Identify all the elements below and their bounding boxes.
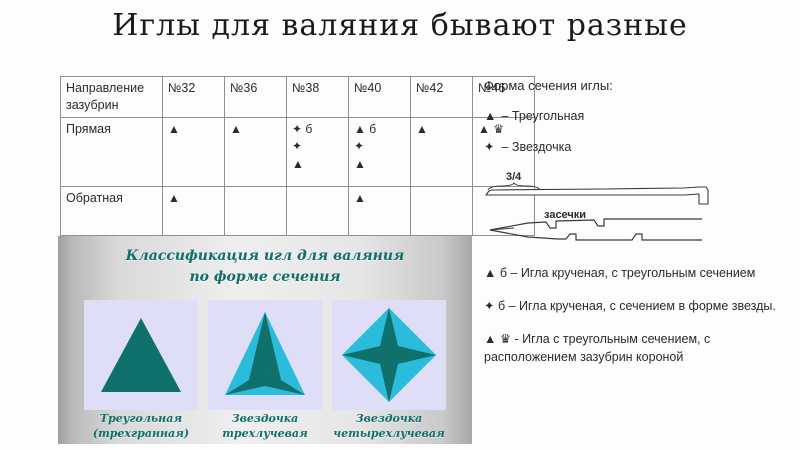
- three-point-star-shape-icon: [208, 300, 322, 410]
- row-label-reverse: Обратная: [61, 187, 163, 236]
- triangle-shape-icon: [84, 300, 198, 410]
- cell-reverse-n36: [225, 187, 287, 236]
- four-point-star-shape-icon: [332, 300, 446, 410]
- legend-entry-triangular: ▲ – Треугольная: [484, 107, 796, 125]
- label-line1: Звездочка: [195, 412, 335, 427]
- label-line2: четырехлучевая: [319, 427, 459, 442]
- table-row: Прямая ▲ ▲ ✦ б ✦ ▲ ▲ б ✦ ▲: [61, 118, 535, 187]
- needle-table: Направление зазубрин №32 №36 №38 №40 №42…: [60, 76, 535, 236]
- label-line1: Треугольная: [71, 412, 211, 427]
- shape-tile-label-four-point-star: Звездочка четырехлучевая: [319, 412, 459, 442]
- symbol: ▲: [292, 156, 343, 173]
- shape-tiles: Треугольная (трехгранная) Звездочка трех…: [58, 300, 472, 442]
- symbol: ▲: [230, 121, 281, 138]
- needle-table-container: Направление зазубрин №32 №36 №38 №40 №42…: [60, 76, 472, 236]
- legend-entry-label: - Игла с треугольным сечением, с располо…: [484, 332, 710, 365]
- shape-tile-label-three-point-star: Звездочка трехлучевая: [195, 412, 335, 442]
- classification-panel: Классификация игл для валяния по форме с…: [58, 236, 472, 444]
- panel-title-line2: по форме сечения: [58, 267, 472, 288]
- symbol: ✦: [354, 138, 405, 155]
- needle-diagram: 3/4 засечки: [484, 168, 796, 260]
- panel-title-line1: Классификация игл для валяния: [58, 246, 472, 267]
- legend-entry-label: – Звездочка: [501, 140, 571, 154]
- cell-reverse-n42: [411, 187, 473, 236]
- table-header-n32: №32: [163, 77, 225, 118]
- slide-root: Иглы для валяния бывают разные Направлен…: [0, 0, 800, 450]
- row-label-straight: Прямая: [61, 118, 163, 187]
- brace-marker: [488, 183, 540, 190]
- cell-reverse-n40: ▲: [349, 187, 411, 236]
- legend-entry-label: – Игла крученая, с треугольным сечением: [511, 266, 756, 280]
- label-line1: Звездочка: [319, 412, 459, 427]
- table-header-n40: №40: [349, 77, 411, 118]
- legend-entry-twisted-triangular: ▲ б – Игла крученая, с треугольным сечен…: [484, 264, 800, 283]
- page-title: Иглы для валяния бывают разные: [0, 8, 800, 43]
- triangle-icon: ▲: [484, 107, 498, 125]
- symbol: ▲: [354, 190, 405, 207]
- cell-reverse-n32: ▲: [163, 187, 225, 236]
- legend-entry-label: – Треугольная: [501, 109, 584, 123]
- cell-straight-n32: ▲: [163, 118, 225, 187]
- table-header-direction: Направление зазубрин: [61, 77, 163, 118]
- label-line2: (трехгранная): [71, 427, 211, 442]
- barb-edge-bottom: [490, 230, 702, 240]
- barb-edge-top: [490, 219, 702, 230]
- cross-section-legend: Форма сечения иглы: ▲ – Треугольная ✦ – …: [484, 78, 796, 169]
- symbol: ▲: [354, 156, 405, 173]
- legend-entry-twisted-star: ✦ б – Игла крученая, с сечением в форме …: [484, 297, 800, 316]
- table-header-row: Направление зазубрин №32 №36 №38 №40 №42…: [61, 77, 535, 118]
- symbol: ▲: [168, 121, 219, 138]
- legend-lead-text: Форма сечения иглы:: [484, 78, 796, 93]
- needle-outline: [486, 187, 708, 204]
- symbol: ✦: [292, 138, 343, 155]
- symbol: ▲ б: [354, 121, 405, 138]
- classification-panel-title: Классификация игл для валяния по форме с…: [58, 246, 472, 288]
- cell-straight-n42: ▲: [411, 118, 473, 187]
- shape-tile-three-point-star: [208, 300, 322, 410]
- cell-reverse-n38: [287, 187, 349, 236]
- fraction-label-3-4: 3/4: [506, 171, 522, 183]
- table-row: Обратная ▲ ▲: [61, 187, 535, 236]
- cell-straight-n38: ✦ б ✦ ▲: [287, 118, 349, 187]
- star-icon: ✦: [484, 138, 498, 156]
- legend-entry-crown: ▲ ♛ - Игла с треугольным сечением, с рас…: [484, 330, 800, 368]
- barbs-label: засечки: [544, 209, 586, 221]
- legend-entry-label: – Игла крученая, с сечением в форме звез…: [509, 299, 776, 313]
- symbol: ▲: [168, 190, 219, 207]
- triangle-crown-icon: ▲ ♛: [484, 332, 511, 346]
- cell-straight-n36: ▲: [225, 118, 287, 187]
- table-header-n42: №42: [411, 77, 473, 118]
- label-line2: трехлучевая: [195, 427, 335, 442]
- star-b-icon: ✦ б: [484, 299, 505, 313]
- cell-straight-n40: ▲ б ✦ ▲: [349, 118, 411, 187]
- shape-tile-triangular: [84, 300, 198, 410]
- symbol: ✦ б: [292, 121, 343, 138]
- symbol: ▲: [416, 121, 467, 138]
- needle-type-legend: ▲ б – Игла крученая, с треугольным сечен…: [484, 264, 800, 381]
- table-header-n36: №36: [225, 77, 287, 118]
- legend-entry-star: ✦ – Звездочка: [484, 138, 796, 156]
- shape-tile-four-point-star: [332, 300, 446, 410]
- triangle-b-icon: ▲ б: [484, 266, 507, 280]
- shape-tile-label-triangular: Треугольная (трехгранная): [71, 412, 211, 442]
- table-header-n38: №38: [287, 77, 349, 118]
